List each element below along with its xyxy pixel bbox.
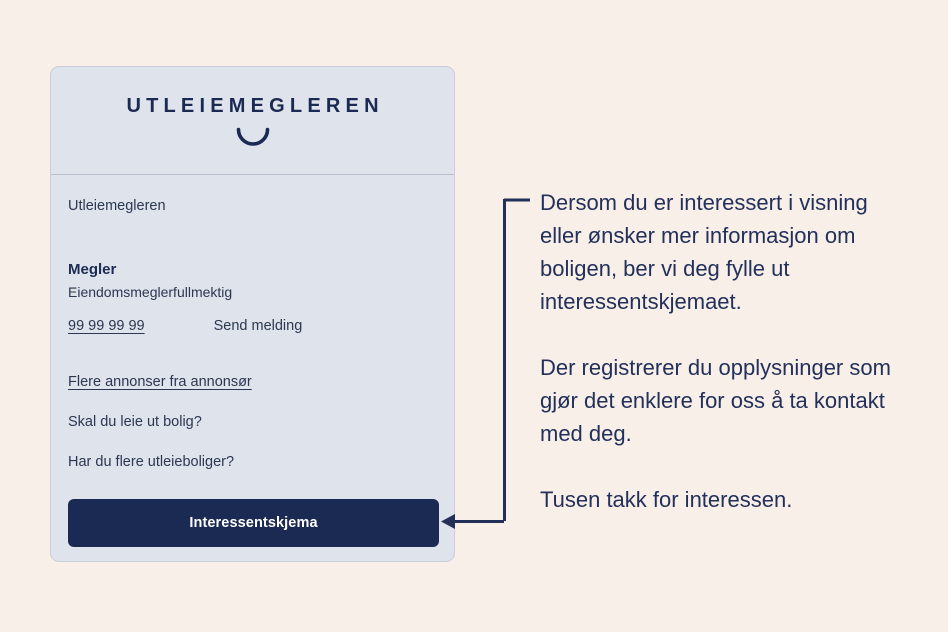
brand-logo-wordmark: UTLEIEMEGLEREN — [121, 96, 383, 116]
card-header: UTLEIEMEGLEREN — [51, 67, 454, 175]
annotation-paragraph-1: Dersom du er interessert i visning eller… — [540, 186, 910, 318]
broker-role-label: Megler — [68, 260, 437, 280]
multiple-rental-units-link[interactable]: Har du flere utleieboliger? — [68, 454, 437, 470]
organization-name: Utleiemegleren — [68, 197, 437, 216]
more-ads-from-advertiser-link[interactable]: Flere annonser fra annonsør — [68, 374, 437, 390]
rent-out-home-link[interactable]: Skal du leie ut bolig? — [68, 414, 437, 430]
broker-phone-link[interactable]: 99 99 99 99 — [68, 318, 145, 334]
annotation-paragraph-2: Der registrerer du opplysninger som gjør… — [540, 351, 910, 450]
card-body: Utleiemegleren Megler Eiendomsmeglerfull… — [51, 175, 454, 470]
broker-info-block: Megler Eiendomsmeglerfullmektig — [68, 260, 437, 302]
annotation-text-block: Dersom du er interessert i visning eller… — [540, 186, 910, 516]
contact-row: 99 99 99 99 Send melding — [68, 318, 437, 334]
send-message-link[interactable]: Send melding — [214, 318, 303, 334]
interest-form-button[interactable]: Interessentskjema — [68, 499, 439, 547]
screenshot-stage: UTLEIEMEGLEREN Utleiemegleren Megler Eie… — [0, 0, 948, 632]
broker-job-title: Eiendomsmeglerfullmektig — [68, 283, 437, 302]
advertiser-links-block: Flere annonser fra annonsør Skal du leie… — [68, 374, 437, 470]
smile-arc-icon — [235, 127, 271, 149]
agent-contact-card: UTLEIEMEGLEREN Utleiemegleren Megler Eie… — [50, 66, 455, 562]
annotation-paragraph-3: Tusen takk for interessen. — [540, 483, 910, 516]
